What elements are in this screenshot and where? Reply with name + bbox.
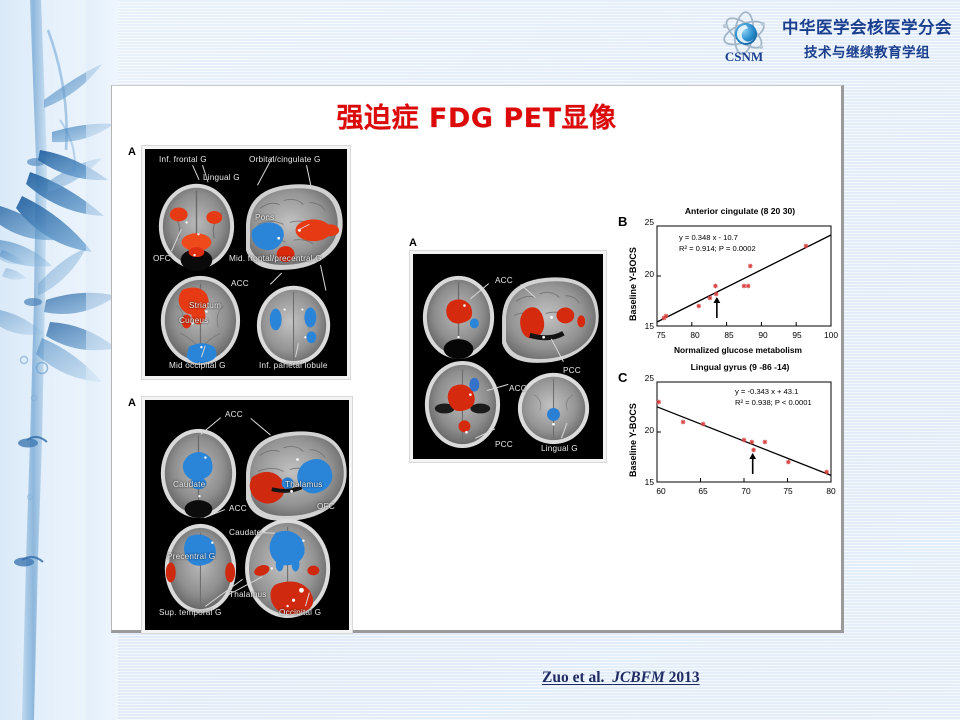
figure-panel-letter: A — [128, 146, 136, 158]
bamboo-decoration — [0, 0, 118, 720]
chart-c-canvas — [617, 360, 835, 506]
brain-label-inf-parietal-lobule: Inf. parietal lobule — [259, 361, 328, 370]
brain-label-inf-frontal-g: Inf. frontal G — [159, 155, 207, 164]
brain-label-pons: Pons — [255, 213, 274, 222]
page-title: 强迫症 FDG PET显像 — [112, 96, 841, 135]
figure-middle-brain-panel: A — [409, 250, 607, 463]
brain-label-caudate-2: Caudate — [229, 528, 261, 537]
brain-label-caudate: Caudate — [173, 480, 205, 489]
citation-author: Zuo et al. — [542, 669, 604, 686]
figure-bottom-left-brain-panel: A — [141, 396, 353, 634]
citation-year: 2013 — [669, 669, 700, 686]
brain-label-ofc: OFC — [317, 502, 335, 511]
brain-label-acc-top: ACC — [495, 276, 513, 285]
logo-line-2: 技术与继续教育学组 — [782, 41, 952, 61]
figure-panel-letter: A — [409, 237, 417, 249]
brain-label-pcc-2: PCC — [495, 440, 513, 449]
brain-label-mid-frontal-precentral-g: Mid. frontal/precentral G — [229, 254, 322, 263]
brain-label-striatum: Striatum — [189, 301, 221, 310]
brain-label-thalamus-2: Thalamus — [229, 590, 267, 599]
bamboo-illustration — [0, 0, 118, 720]
organization-logo: CSNM 中华医学会核医学分会 技术与继续教育学组 — [713, 6, 952, 68]
brain-label-acc-top: ACC — [225, 410, 243, 419]
chart-b-canvas — [617, 204, 835, 360]
logo-line-1: 中华医学会核医学分会 — [782, 14, 952, 38]
brain-label-acc-mid: ACC — [229, 504, 247, 513]
brain-label-thalamus: Thalamus — [285, 480, 323, 489]
brain-label-lingual-g: Lingual G — [203, 173, 240, 182]
brain-label-precentral-g: Precentral G — [167, 552, 215, 561]
brain-label-ofc: OFC — [153, 254, 171, 263]
figure-panel-letter: A — [128, 397, 136, 409]
chart-panel-b: B Anterior cingulate (8 20 30) Baseline … — [617, 204, 835, 360]
brain-label-acc-mid: ACC — [509, 384, 527, 393]
brain-label-sup-temporal-g: Sup. temporal G — [159, 608, 222, 617]
presentation-slide: CSNM 中华医学会核医学分会 技术与继续教育学组 强迫症 FDG PET显像 … — [0, 0, 960, 720]
chart-panel-c: C Lingual gyrus (9 -86 -14) Baseline Y-B… — [617, 360, 835, 506]
slide-content-panel: 强迫症 FDG PET显像 A — [111, 85, 844, 633]
csnm-atom-icon: CSNM — [713, 6, 775, 68]
brain-label-orbital-cingulate-g: Orbital/cingulate G — [249, 155, 321, 164]
brain-label-cuneus: Cuneus — [179, 316, 208, 325]
brain-label-acc: ACC — [231, 279, 249, 288]
brain-label-mid-occipital-g: Mid occipital G — [169, 361, 226, 370]
brain-label-pcc: PCC — [563, 366, 581, 375]
brain-label-lingual-g: Lingual G — [541, 444, 578, 453]
csnm-acronym: CSNM — [725, 49, 763, 64]
brain-label-occipital-g: Occipital G — [279, 608, 321, 617]
figure-top-left-brain-panel: A — [141, 145, 351, 380]
citation-journal: JCBFM — [612, 669, 665, 686]
citation-link[interactable]: Zuo et al. JCBFM 2013 — [542, 669, 700, 687]
